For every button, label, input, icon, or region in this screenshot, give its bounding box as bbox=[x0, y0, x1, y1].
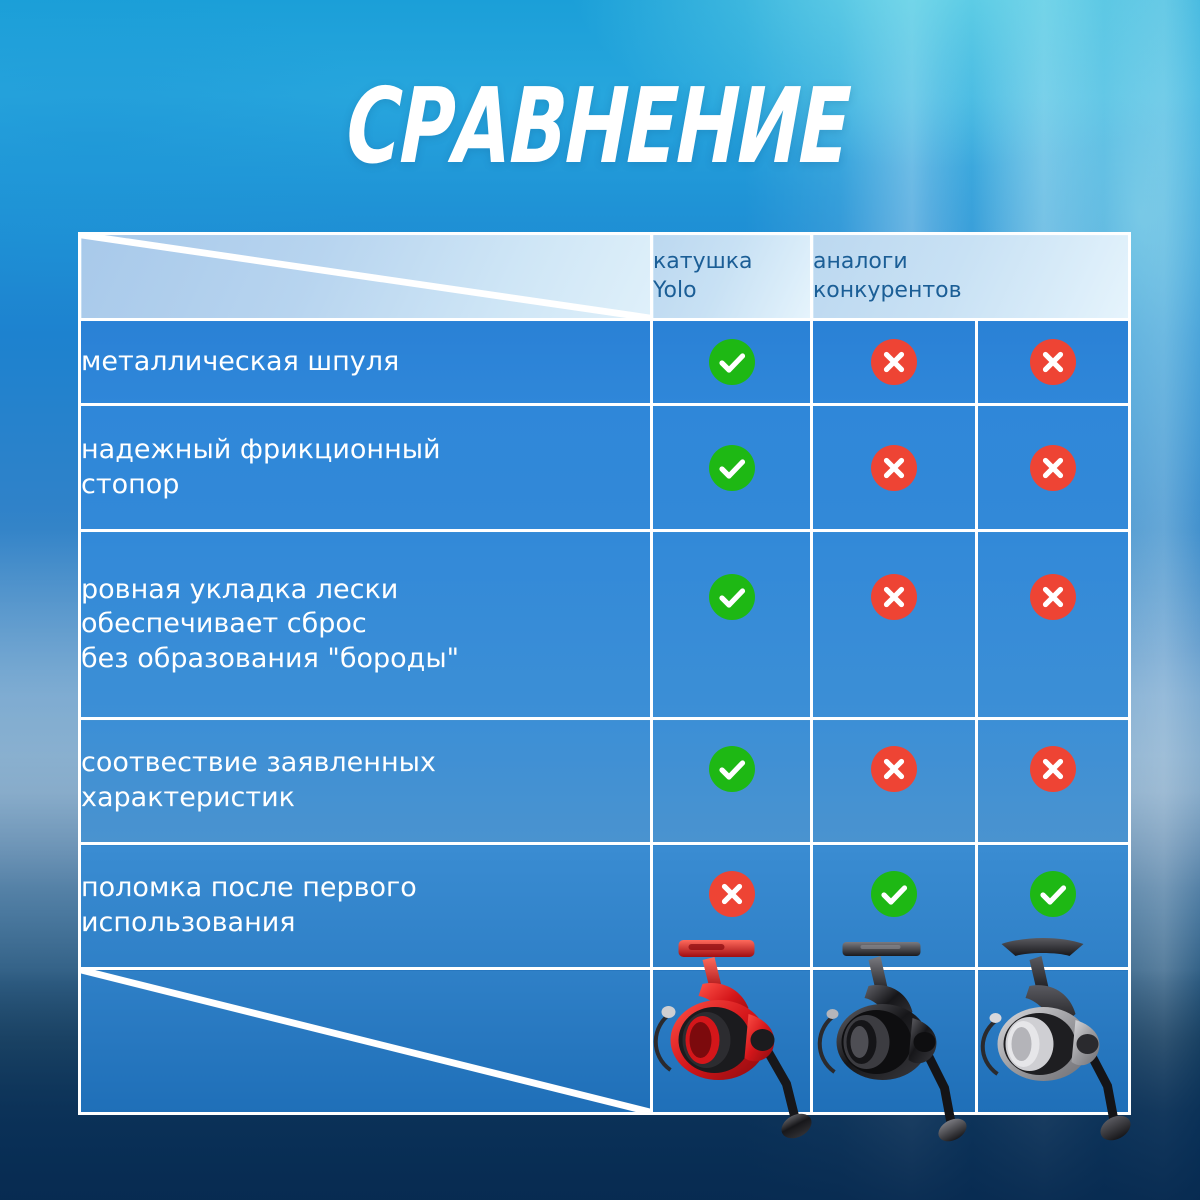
product-cell-competitor-1 bbox=[812, 969, 977, 1114]
mark-cell-competitor-2 bbox=[977, 405, 1130, 531]
table-row: ровная укладка лески обеспечивает сброс … bbox=[80, 531, 1130, 719]
mark-cell-competitor-2 bbox=[977, 531, 1130, 719]
feature-line: ровная укладка лески bbox=[81, 573, 650, 608]
mark-cell-competitor-2 bbox=[977, 719, 1130, 844]
column-header-competitors-line1: аналоги bbox=[813, 248, 1128, 277]
column-header-yolo-line2: Yolo bbox=[653, 277, 810, 306]
feature-line: использования bbox=[81, 906, 650, 941]
check-circle-icon bbox=[1030, 871, 1076, 917]
table-footer-corner-cell bbox=[80, 969, 652, 1114]
cross-circle-icon bbox=[709, 871, 755, 917]
cross-circle-icon bbox=[871, 339, 917, 385]
feature-label: ровная укладка лески обеспечивает сброс … bbox=[80, 531, 652, 719]
page-title: СРАВНЕНИЕ bbox=[164, 74, 1032, 178]
table-row: соотвествие заявленных характеристик bbox=[80, 719, 1130, 844]
diagonal-line-icon bbox=[81, 235, 650, 318]
check-circle-icon bbox=[709, 746, 755, 792]
mark-cell-competitor-1 bbox=[812, 719, 977, 844]
mark-cell-competitor-1 bbox=[812, 531, 977, 719]
check-circle-icon bbox=[709, 339, 755, 385]
feature-line: соотвествие заявленных bbox=[81, 746, 650, 781]
cross-circle-icon bbox=[871, 574, 917, 620]
table-product-row bbox=[80, 969, 1130, 1114]
table-row: металлическая шпуля bbox=[80, 320, 1130, 405]
feature-label: надежный фрикционный стопор bbox=[80, 405, 652, 531]
check-circle-icon bbox=[871, 871, 917, 917]
column-header-competitors-line2: конкурентов bbox=[813, 277, 1128, 306]
table-header-row: катушка Yolo аналоги конкурентов bbox=[80, 234, 1130, 320]
table-row: поломка после первого использования bbox=[80, 844, 1130, 969]
feature-line: характеристик bbox=[81, 781, 650, 816]
mark-cell-competitor-1 bbox=[812, 844, 977, 969]
feature-line: металлическая шпуля bbox=[81, 345, 650, 380]
mark-cell-yolo bbox=[652, 320, 812, 405]
cross-circle-icon bbox=[1030, 339, 1076, 385]
cross-circle-icon bbox=[1030, 574, 1076, 620]
check-circle-icon bbox=[709, 445, 755, 491]
cross-circle-icon bbox=[871, 746, 917, 792]
column-header-yolo: катушка Yolo bbox=[652, 234, 812, 320]
feature-label: соотвествие заявленных характеристик bbox=[80, 719, 652, 844]
mark-cell-yolo bbox=[652, 531, 812, 719]
feature-line: обеспечивает сброс bbox=[81, 607, 650, 642]
comparison-table: катушка Yolo аналоги конкурентов металли… bbox=[78, 232, 1128, 1112]
product-cell-competitor-2 bbox=[977, 969, 1130, 1114]
cross-circle-icon bbox=[1030, 445, 1076, 491]
mark-cell-competitor-1 bbox=[812, 320, 977, 405]
product-cell-yolo bbox=[652, 969, 812, 1114]
cross-circle-icon bbox=[871, 445, 917, 491]
mark-cell-competitor-1 bbox=[812, 405, 977, 531]
cross-circle-icon bbox=[1030, 746, 1076, 792]
column-header-yolo-line1: катушка bbox=[653, 248, 810, 277]
table-row: надежный фрикционный стопор bbox=[80, 405, 1130, 531]
feature-label: поломка после первого использования bbox=[80, 844, 652, 969]
feature-line: без образования "бороды" bbox=[81, 642, 650, 677]
column-header-competitors: аналоги конкурентов bbox=[812, 234, 1130, 320]
feature-line: поломка после первого bbox=[81, 871, 650, 906]
feature-label: металлическая шпуля bbox=[80, 320, 652, 405]
mark-cell-competitor-2 bbox=[977, 320, 1130, 405]
feature-line: стопор bbox=[81, 468, 650, 503]
mark-cell-competitor-2 bbox=[977, 844, 1130, 969]
mark-cell-yolo bbox=[652, 719, 812, 844]
mark-cell-yolo bbox=[652, 405, 812, 531]
diagonal-line-icon bbox=[81, 970, 650, 1112]
table-corner-cell bbox=[80, 234, 652, 320]
mark-cell-yolo bbox=[652, 844, 812, 969]
check-circle-icon bbox=[709, 574, 755, 620]
comparison-table-grid: катушка Yolo аналоги конкурентов металли… bbox=[78, 232, 1131, 1115]
feature-line: надежный фрикционный bbox=[81, 433, 650, 468]
